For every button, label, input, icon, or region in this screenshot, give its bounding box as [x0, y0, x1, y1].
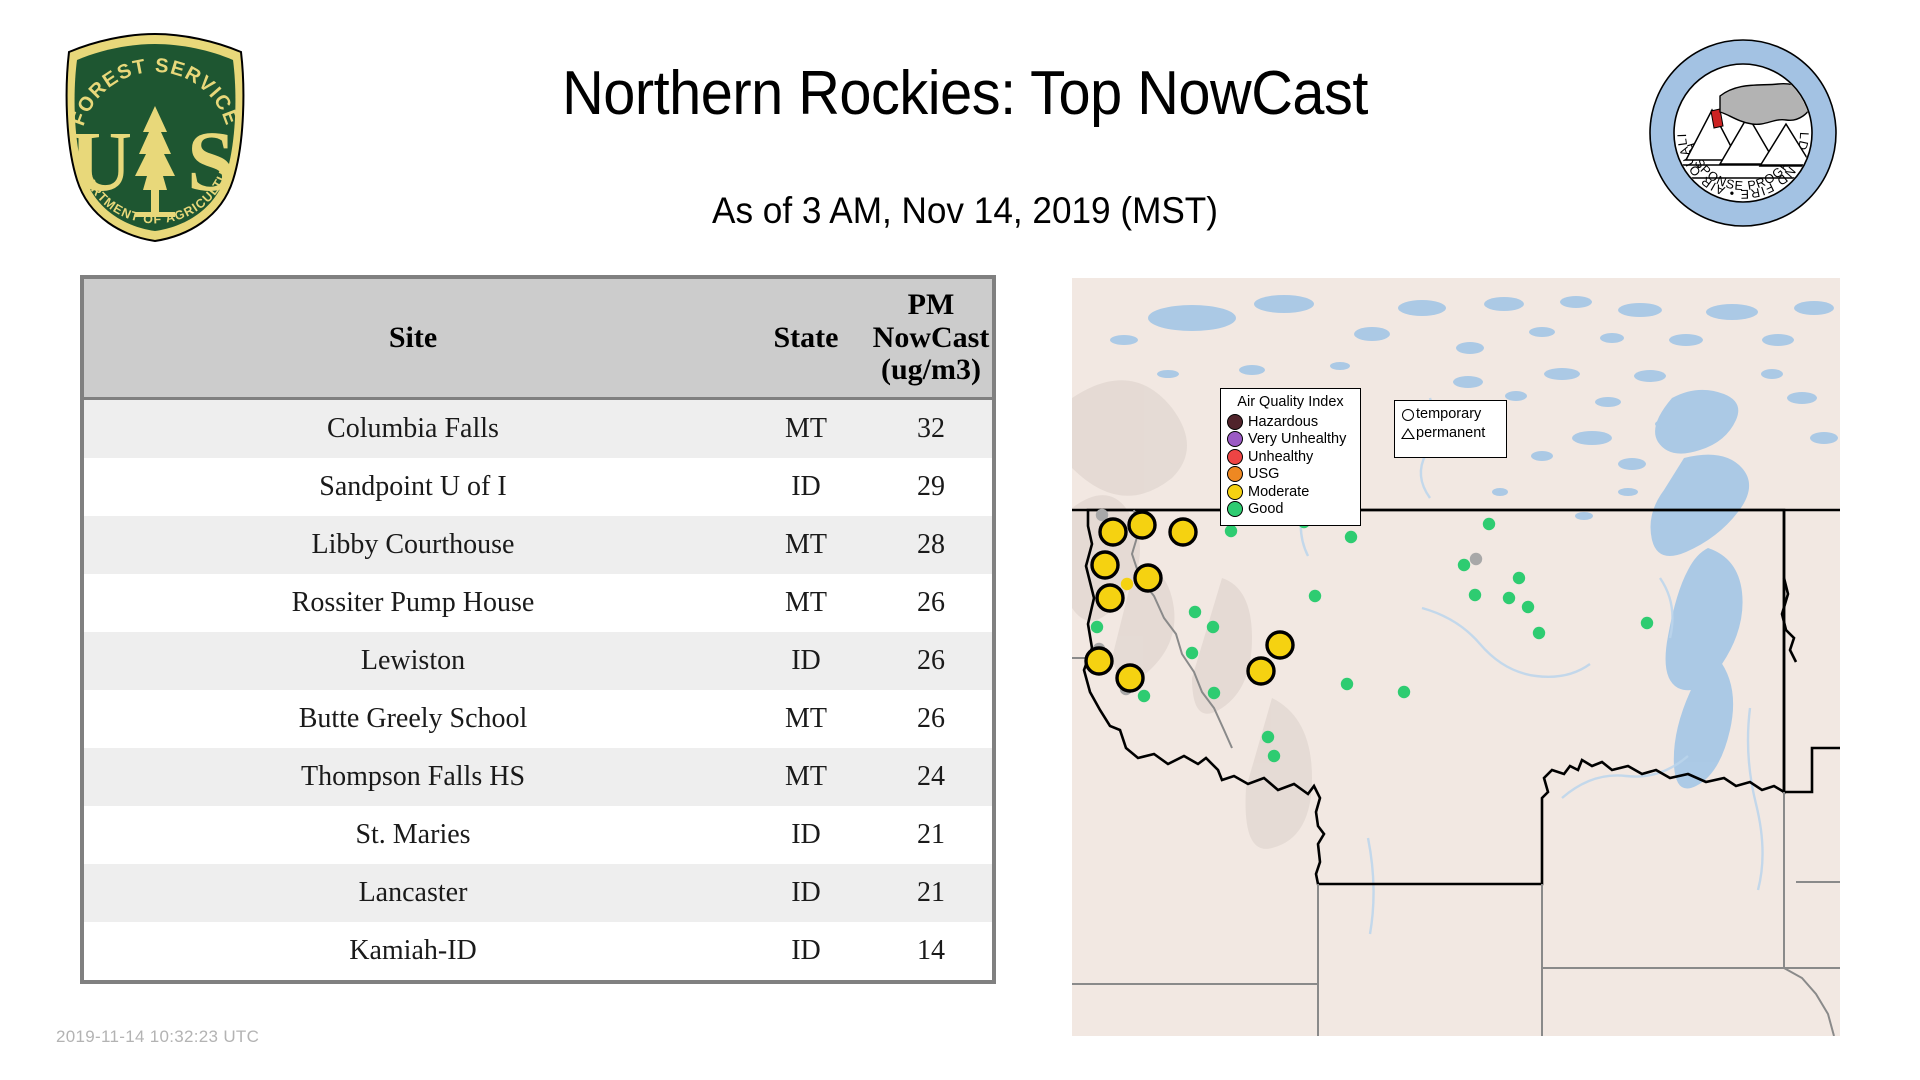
pm-nowcast-cell: 29	[870, 458, 994, 516]
legend-row-temporary: temporary	[1400, 405, 1501, 424]
monitor-marker-good[interactable]	[1398, 686, 1410, 698]
legend-row-permanent: permanent	[1400, 424, 1501, 443]
monitor-marker-good[interactable]	[1641, 617, 1653, 629]
marker-type-legend: temporary permanent	[1394, 400, 1507, 458]
monitor-marker-good[interactable]	[1458, 559, 1470, 571]
aqi-legend-label: Hazardous	[1248, 415, 1318, 430]
pm-header-line2: NowCast	[870, 322, 992, 354]
state-cell: MT	[742, 574, 870, 632]
monitor-marker-moderate[interactable]	[1100, 519, 1126, 545]
state-cell: ID	[742, 864, 870, 922]
monitor-marker-good[interactable]	[1522, 601, 1534, 613]
pm-header-line1: PM	[870, 289, 992, 321]
svg-text:S: S	[187, 113, 235, 209]
table-row: Kamiah-IDID14	[82, 922, 994, 982]
usda-forest-service-logo: FOREST SERVICE DEPARTMENT OF AGRICULTURE…	[55, 30, 255, 245]
state-cell: ID	[742, 922, 870, 982]
monitor-marker-good[interactable]	[1189, 606, 1201, 618]
triangle-marker-icon	[1400, 428, 1416, 439]
table-row: St. MariesID21	[82, 806, 994, 864]
table-row: Columbia FallsMT32	[82, 399, 994, 459]
monitor-marker-good[interactable]	[1503, 592, 1515, 604]
monitor-marker-moderate[interactable]	[1129, 512, 1155, 538]
pm-nowcast-cell: 14	[870, 922, 994, 982]
aqi-legend-title: Air Quality Index	[1227, 394, 1354, 410]
aqi-legend-item: Good	[1227, 501, 1354, 519]
monitor-marker-good[interactable]	[1207, 621, 1219, 633]
monitor-marker-good[interactable]	[1513, 572, 1525, 584]
site-cell: Rossiter Pump House	[82, 574, 742, 632]
aqi-legend-item: Moderate	[1227, 483, 1354, 501]
pm-nowcast-cell: 28	[870, 516, 994, 574]
aqi-legend-rows: HazardousVery UnhealthyUnhealthyUSGModer…	[1227, 413, 1354, 518]
monitor-marker-moderate[interactable]	[1170, 519, 1196, 545]
state-cell: MT	[742, 516, 870, 574]
site-cell: Kamiah-ID	[82, 922, 742, 982]
table-row: Libby CourthouseMT28	[82, 516, 994, 574]
state-cell: MT	[742, 399, 870, 459]
aqi-legend-item: USG	[1227, 466, 1354, 484]
aqi-swatch-icon	[1227, 501, 1243, 517]
site-cell: St. Maries	[82, 806, 742, 864]
monitor-marker-good[interactable]	[1186, 647, 1198, 659]
wildland-fire-air-quality-icon: WILDLAND FIRE • AIR QUALITY RESPONSE PRO…	[1648, 38, 1838, 228]
aqi-swatch-icon	[1227, 431, 1243, 447]
aqi-swatch-icon	[1227, 449, 1243, 465]
air-quality-map[interactable]: Air Quality Index HazardousVery Unhealth…	[1072, 278, 1840, 1036]
site-cell: Lewiston	[82, 632, 742, 690]
wfaqrp-logo: WILDLAND FIRE • AIR QUALITY RESPONSE PRO…	[1648, 38, 1838, 228]
monitor-marker-moderate[interactable]	[1097, 585, 1123, 611]
temporary-label: temporary	[1416, 407, 1481, 422]
aqi-legend-label: Good	[1248, 502, 1283, 517]
monitor-marker-moderate[interactable]	[1135, 565, 1161, 591]
permanent-label: permanent	[1416, 426, 1485, 441]
state-cell: MT	[742, 690, 870, 748]
state-cell: ID	[742, 806, 870, 864]
column-header-pm-nowcast: PM NowCast (ug/m3)	[870, 277, 994, 399]
site-cell: Libby Courthouse	[82, 516, 742, 574]
pm-nowcast-cell: 21	[870, 864, 994, 922]
aqi-swatch-icon	[1227, 414, 1243, 430]
aqi-legend-label: Moderate	[1248, 485, 1309, 500]
pm-nowcast-cell: 21	[870, 806, 994, 864]
monitor-marker-good[interactable]	[1225, 525, 1237, 537]
map-canvas	[1072, 278, 1840, 1036]
monitor-marker-moderate[interactable]	[1117, 665, 1143, 691]
aqi-legend: Air Quality Index HazardousVery Unhealth…	[1220, 388, 1361, 526]
monitor-marker-moderate[interactable]	[1086, 648, 1112, 674]
column-header-site: Site	[82, 277, 742, 399]
table-row: Sandpoint U of IID29	[82, 458, 994, 516]
monitor-marker-good[interactable]	[1483, 518, 1495, 530]
state-cell: ID	[742, 458, 870, 516]
state-cell: MT	[742, 748, 870, 806]
column-header-state: State	[742, 277, 870, 399]
aqi-swatch-icon	[1227, 466, 1243, 482]
table-row: LewistonID26	[82, 632, 994, 690]
site-cell: Butte Greely School	[82, 690, 742, 748]
aqi-swatch-icon	[1227, 484, 1243, 500]
table-row: LancasterID21	[82, 864, 994, 922]
pm-nowcast-cell: 26	[870, 632, 994, 690]
aqi-legend-label: Unhealthy	[1248, 450, 1313, 465]
monitor-marker-good[interactable]	[1533, 627, 1545, 639]
monitor-marker-good[interactable]	[1309, 590, 1321, 602]
table-body: Columbia FallsMT32Sandpoint U of IID29Li…	[82, 399, 994, 983]
state-cell: ID	[742, 632, 870, 690]
pm-header-line3: (ug/m3)	[870, 354, 992, 386]
monitor-marker-moderate[interactable]	[1121, 578, 1133, 590]
site-cell: Thompson Falls HS	[82, 748, 742, 806]
pm-nowcast-cell: 26	[870, 574, 994, 632]
monitor-marker-offline[interactable]	[1470, 553, 1482, 565]
pm-nowcast-cell: 32	[870, 399, 994, 459]
monitor-marker-good[interactable]	[1262, 731, 1274, 743]
table-row: Rossiter Pump HouseMT26	[82, 574, 994, 632]
monitor-marker-good[interactable]	[1208, 687, 1220, 699]
aqi-legend-item: Unhealthy	[1227, 448, 1354, 466]
monitor-marker-good[interactable]	[1469, 589, 1481, 601]
site-cell: Lancaster	[82, 864, 742, 922]
circle-marker-icon	[1400, 409, 1416, 421]
page-title: Northern Rockies: Top NowCast	[347, 58, 1584, 129]
site-cell: Columbia Falls	[82, 399, 742, 459]
monitor-marker-moderate[interactable]	[1267, 632, 1293, 658]
site-cell: Sandpoint U of I	[82, 458, 742, 516]
aqi-legend-label: Very Unhealthy	[1248, 432, 1346, 447]
monitor-marker-good[interactable]	[1341, 678, 1353, 690]
monitor-marker-moderate[interactable]	[1092, 552, 1118, 578]
table-row: Thompson Falls HSMT24	[82, 748, 994, 806]
monitor-marker-good[interactable]	[1091, 621, 1103, 633]
pm-nowcast-cell: 24	[870, 748, 994, 806]
table-header-row: Site State PM NowCast (ug/m3)	[82, 277, 994, 399]
aqi-legend-item: Very Unhealthy	[1227, 431, 1354, 449]
forest-service-shield-icon: FOREST SERVICE DEPARTMENT OF AGRICULTURE…	[55, 30, 255, 245]
monitor-marker-good[interactable]	[1138, 690, 1150, 702]
pm-nowcast-cell: 26	[870, 690, 994, 748]
monitor-marker-moderate[interactable]	[1248, 658, 1274, 684]
page-subtitle: As of 3 AM, Nov 14, 2019 (MST)	[333, 190, 1597, 232]
monitor-marker-good[interactable]	[1268, 750, 1280, 762]
aqi-legend-label: USG	[1248, 467, 1279, 482]
top-nowcast-table: Site State PM NowCast (ug/m3) Columbia F…	[80, 275, 996, 984]
monitor-marker-good[interactable]	[1345, 531, 1357, 543]
aqi-legend-item: Hazardous	[1227, 413, 1354, 431]
footer-timestamp: 2019-11-14 10:32:23 UTC	[56, 1027, 259, 1047]
table-row: Butte Greely SchoolMT26	[82, 690, 994, 748]
svg-text:U: U	[70, 113, 132, 209]
